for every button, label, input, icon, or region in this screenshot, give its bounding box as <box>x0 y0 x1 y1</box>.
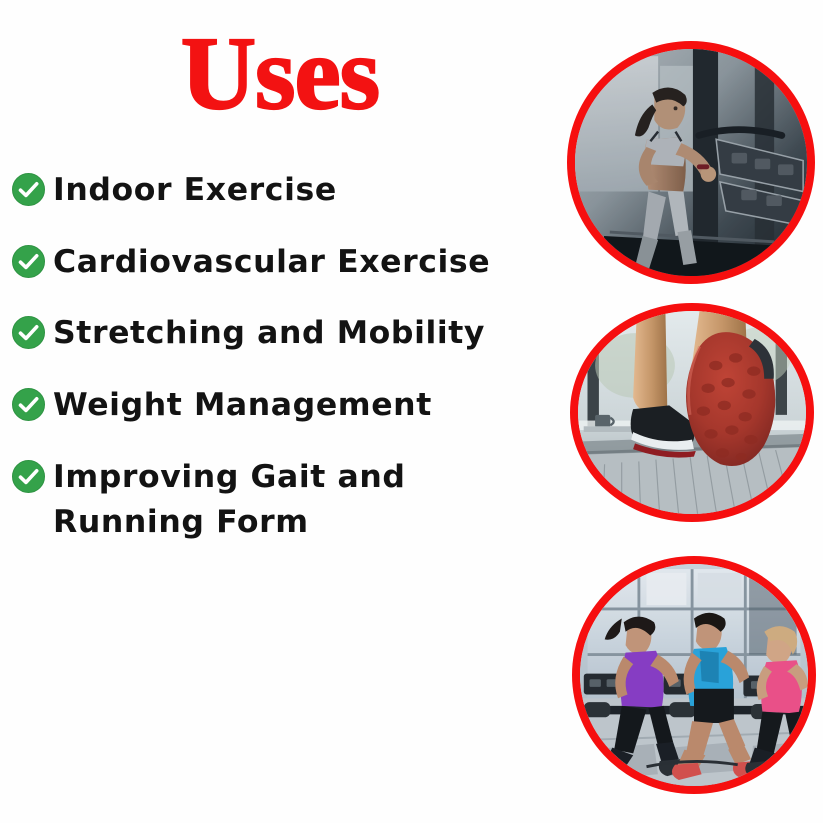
check-circle-icon <box>12 388 45 421</box>
group-treadmill-running-photo <box>572 556 816 794</box>
infographic-poster: Uses Indoor Exercise Cardiovascula <box>0 0 823 823</box>
running-shoe-sole-photo <box>570 303 814 522</box>
list-item-label: Stretching and Mobility <box>53 311 485 356</box>
list-item-label: Weight Management <box>53 383 432 428</box>
list-item: Cardiovascular Exercise <box>12 240 557 285</box>
check-circle-icon <box>12 173 45 206</box>
check-circle-icon <box>12 460 45 493</box>
list-item-label: Indoor Exercise <box>53 168 337 213</box>
list-item-label: Cardiovascular Exercise <box>53 240 490 285</box>
list-item-label: Improving Gait and Running Form <box>53 455 406 544</box>
list-item: Stretching and Mobility <box>12 311 557 356</box>
check-circle-icon <box>12 245 45 278</box>
list-item: Indoor Exercise <box>12 168 557 213</box>
page-title: Uses <box>0 22 560 126</box>
list-item: Weight Management <box>12 383 557 428</box>
check-circle-icon <box>12 316 45 349</box>
list-item: Improving Gait and Running Form <box>12 455 557 544</box>
woman-running-on-treadmill-photo <box>567 41 815 284</box>
uses-list: Indoor Exercise Cardiovascular Exercise <box>12 168 557 544</box>
